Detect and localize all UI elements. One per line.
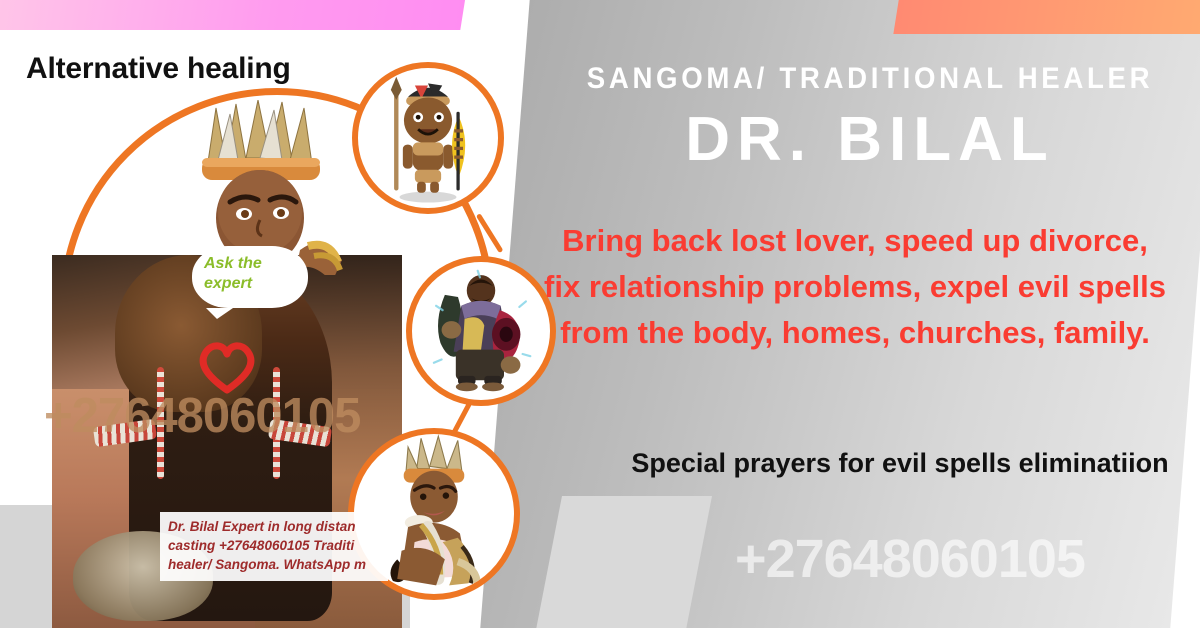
special-prayers-text: Special prayers for evil spells eliminat… xyxy=(620,443,1180,484)
poster-canvas: Alternative healing +27648060105 xyxy=(0,0,1200,628)
healer-with-bag-icon xyxy=(412,262,550,400)
section-title: Alternative healing xyxy=(26,52,291,86)
headline-doctor-name: DR. BILAL xyxy=(560,104,1180,175)
speech-bubble: Ask the expert xyxy=(192,246,308,308)
heart-icon xyxy=(196,338,258,394)
services-text: Bring back lost lover, speed up divorce,… xyxy=(540,218,1170,356)
photo-bead-strand-left xyxy=(157,367,164,479)
circle-zulu-warrior-cartoon xyxy=(352,62,504,214)
photo-caption: Dr. Bilal Expert in long distan casting … xyxy=(160,512,388,581)
phone-number-ghost: +27648060105 xyxy=(640,528,1180,590)
circle-traditional-healer-figure xyxy=(406,256,556,406)
zulu-warrior-icon xyxy=(358,68,498,208)
kicker-text: SANGOMA/ TRADITIONAL HEALER xyxy=(585,62,1155,96)
speech-bubble-text: Ask the expert xyxy=(204,254,300,294)
pink-top-band xyxy=(0,0,466,30)
orange-top-band xyxy=(893,0,1200,34)
